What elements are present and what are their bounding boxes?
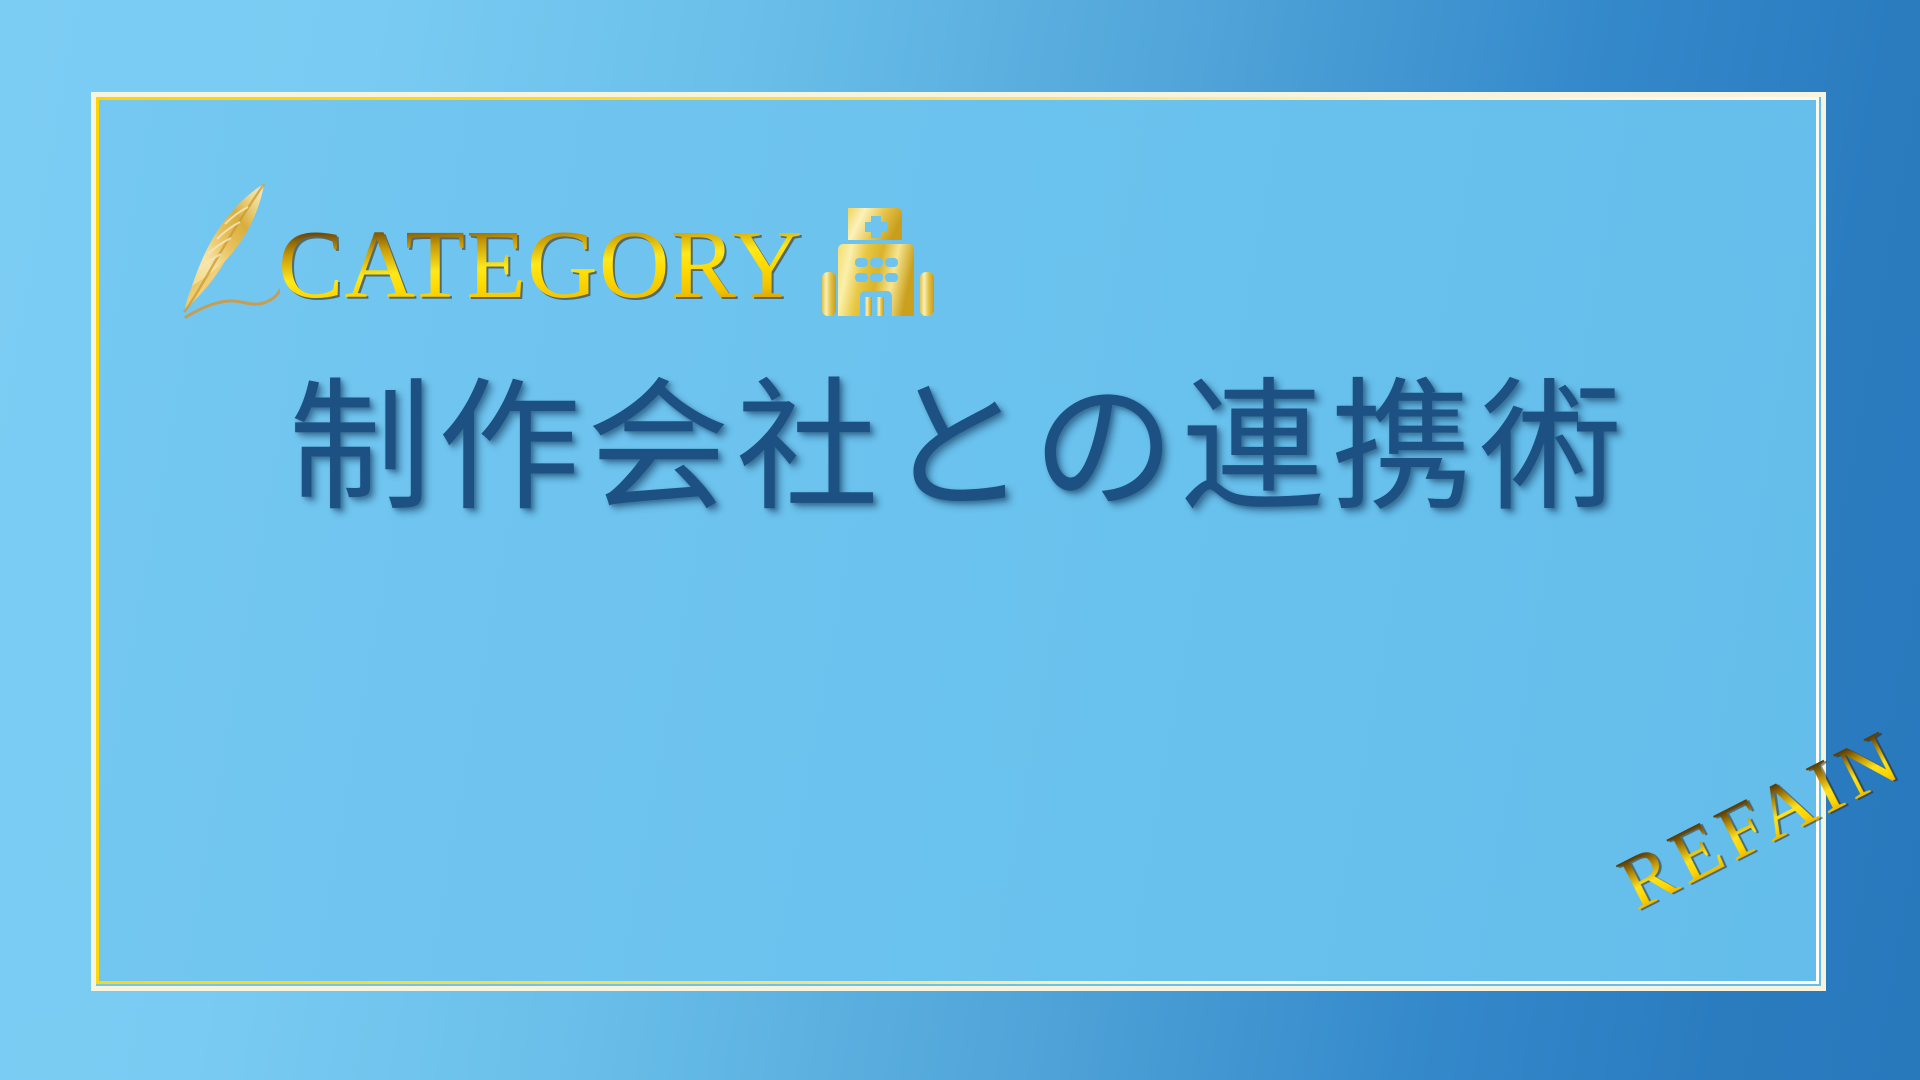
slide-canvas: CATEGORY xyxy=(0,0,1920,1080)
quill-feather-icon xyxy=(176,174,280,320)
hospital-building-icon xyxy=(819,202,937,320)
category-eyebrow-label: CATEGORY xyxy=(278,216,803,314)
page-title: 制作会社との連携術 xyxy=(96,368,1821,528)
category-row: CATEGORY xyxy=(176,178,937,308)
